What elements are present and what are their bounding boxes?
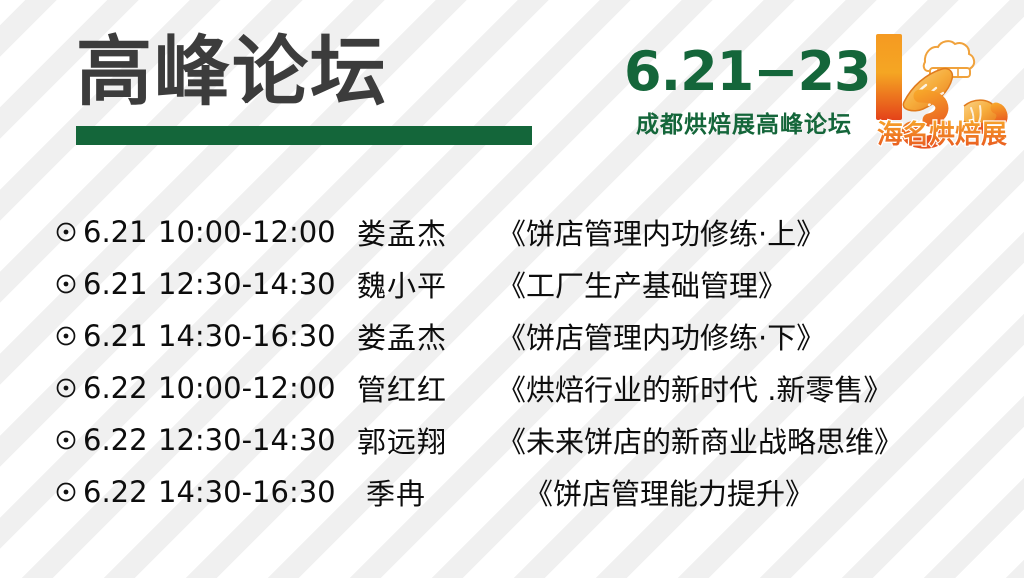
schedule-date: 6.21 bbox=[83, 319, 148, 353]
circle-dot-icon bbox=[55, 481, 77, 503]
date-block: 6.21−23 成都烘焙展高峰论坛 bbox=[624, 42, 864, 140]
circle-dot-icon bbox=[55, 429, 77, 451]
schedule-date: 6.21 bbox=[83, 215, 148, 249]
circle-dot-icon bbox=[55, 273, 77, 295]
schedule-row: 6.21 12:30-14:30 魏小平 《工厂生产基础管理》 bbox=[0, 258, 1024, 310]
schedule-talk: 《未来饼店的新商业战略思维》 bbox=[497, 419, 903, 461]
schedule-list: 6.21 10:00-12:00 娄孟杰 《饼店管理内功修练·上》 6.21 1… bbox=[0, 206, 1024, 518]
schedule-date: 6.22 bbox=[83, 423, 148, 457]
page-title: 高峰论坛 bbox=[76, 26, 536, 118]
brand-logo: 海名烘焙展 bbox=[868, 28, 1016, 150]
schedule-time: 10:00-12:00 bbox=[158, 215, 336, 249]
schedule-time: 12:30-14:30 bbox=[158, 423, 336, 457]
title-underline-bar bbox=[76, 126, 532, 145]
schedule-row: 6.21 14:30-16:30 娄孟杰 《饼店管理内功修练·下》 bbox=[0, 310, 1024, 362]
schedule-talk: 《饼店管理内功修练·下》 bbox=[497, 315, 825, 357]
schedule-time: 14:30-16:30 bbox=[158, 475, 336, 509]
circle-dot-icon bbox=[55, 221, 77, 243]
event-subtitle: 成都烘焙展高峰论坛 bbox=[624, 110, 864, 140]
schedule-talk: 《饼店管理内功修练·上》 bbox=[497, 211, 825, 253]
schedule-date: 6.22 bbox=[83, 475, 148, 509]
title-block: 高峰论坛 bbox=[76, 26, 536, 118]
circle-dot-icon bbox=[55, 325, 77, 347]
schedule-row: 6.22 10:00-12:00 管红红 《烘焙行业的新时代 .新零售》 bbox=[0, 362, 1024, 414]
logo-h-stem bbox=[876, 34, 902, 120]
logo-name-cn: 海名烘焙展 bbox=[877, 119, 1007, 150]
circle-dot-icon bbox=[55, 377, 77, 399]
poster-header: 高峰论坛 6.21−23 成都烘焙展高峰论坛 bbox=[0, 0, 1024, 172]
schedule-speaker: 魏小平 bbox=[357, 263, 447, 305]
schedule-talk: 《工厂生产基础管理》 bbox=[497, 263, 787, 305]
schedule-speaker: 季冉 bbox=[366, 471, 426, 513]
schedule-speaker: 管红红 bbox=[357, 367, 447, 409]
schedule-talk: 《烘焙行业的新时代 .新零售》 bbox=[497, 367, 892, 409]
schedule-speaker: 郭远翔 bbox=[357, 419, 447, 461]
schedule-speaker: 娄孟杰 bbox=[357, 211, 447, 253]
schedule-row: 6.22 12:30-14:30 郭远翔 《未来饼店的新商业战略思维》 bbox=[0, 414, 1024, 466]
event-date-range: 6.21−23 bbox=[624, 42, 864, 102]
schedule-date: 6.22 bbox=[83, 371, 148, 405]
forum-schedule-poster: 高峰论坛 6.21−23 成都烘焙展高峰论坛 bbox=[0, 0, 1024, 578]
schedule-speaker: 娄孟杰 bbox=[357, 315, 447, 357]
schedule-time: 14:30-16:30 bbox=[158, 319, 336, 353]
schedule-row: 6.21 10:00-12:00 娄孟杰 《饼店管理内功修练·上》 bbox=[0, 206, 1024, 258]
schedule-row: 6.22 14:30-16:30 季冉 《饼店管理能力提升》 bbox=[0, 466, 1024, 518]
schedule-date: 6.21 bbox=[83, 267, 148, 301]
schedule-time: 12:30-14:30 bbox=[158, 267, 336, 301]
schedule-talk: 《饼店管理能力提升》 bbox=[524, 471, 814, 513]
schedule-time: 10:00-12:00 bbox=[158, 371, 336, 405]
